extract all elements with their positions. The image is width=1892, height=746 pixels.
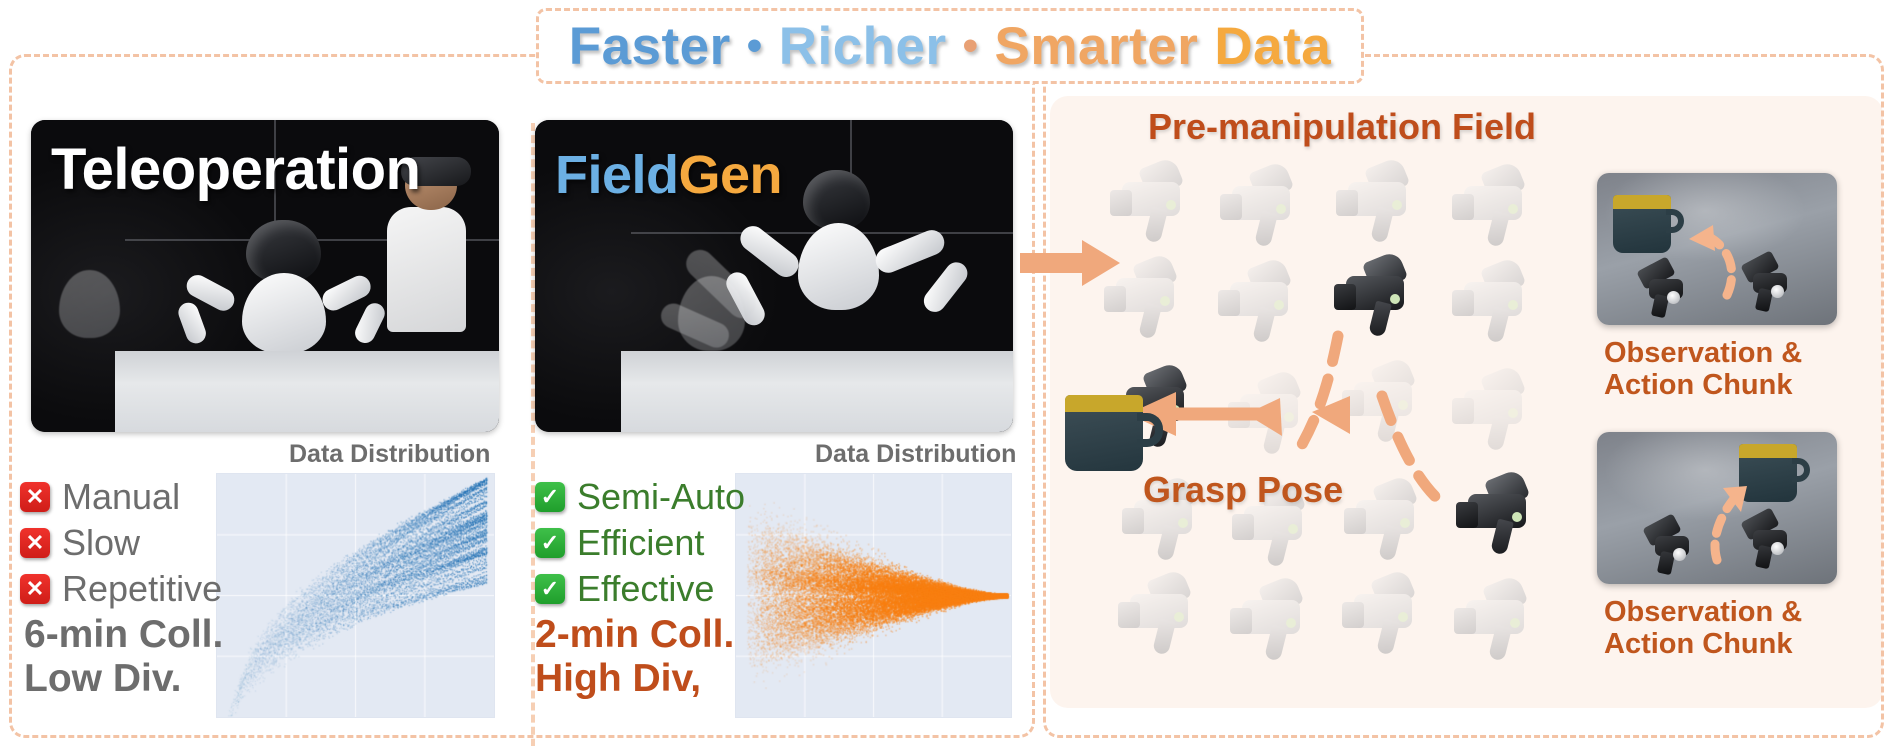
list-item: ✓ Semi-Auto <box>535 474 745 520</box>
scatter-canvas-fieldgen <box>736 474 1011 717</box>
gripper-field <box>1100 160 1600 700</box>
headline-word-smarter: Smarter <box>995 16 1199 77</box>
summary-line-1: 6-min Coll. <box>24 613 223 657</box>
bullet-label: Effective <box>577 568 714 610</box>
headline-word-data: Data <box>1214 16 1331 77</box>
headline-text: Faster • Richer • Smarter Data <box>569 16 1332 77</box>
fieldgen-bullet-list: ✓ Semi-Auto ✓ Efficient ✓ Effective <box>535 474 745 612</box>
check-icon: ✓ <box>535 574 565 604</box>
check-icon: ✓ <box>535 528 565 558</box>
gripper-pose <box>1340 478 1432 556</box>
headline-banner: Faster • Richer • Smarter Data <box>536 8 1364 84</box>
observation-thumbnail-2 <box>1597 432 1837 584</box>
headline-word-faster: Faster <box>569 16 731 77</box>
list-item: ✓ Efficient <box>535 520 745 566</box>
gripper-pose <box>1448 164 1540 242</box>
scatter-plot-fieldgen <box>735 473 1012 718</box>
observation-caption-1: Observation & Action Chunk <box>1604 337 1802 402</box>
teleoperation-photo: Teleoperation <box>31 120 499 432</box>
observation-caption-2: Observation & Action Chunk <box>1604 596 1802 661</box>
gripper-pose <box>1338 360 1430 438</box>
caption-line-2: Action Chunk <box>1604 369 1802 401</box>
figure-root: Faster • Richer • Smarter Data <box>0 0 1892 746</box>
summary-line-2: High Div, <box>535 657 734 701</box>
caption-line-1: Observation & <box>1604 596 1802 628</box>
list-item: ✕ Slow <box>20 520 222 566</box>
pre-manipulation-title: Pre-manipulation Field <box>1148 106 1536 148</box>
gripper-pose-highlighted <box>1452 472 1544 550</box>
scatter-plot-teleoperation <box>216 473 495 718</box>
headline-word-richer: Richer <box>779 16 947 77</box>
list-item: ✕ Manual <box>20 474 222 520</box>
teleoperation-summary: 6-min Coll. Low Div. <box>24 613 223 700</box>
gripper-pose <box>1114 572 1206 650</box>
data-distribution-title-middle: Data Distribution <box>815 440 1016 469</box>
grasp-pose-label: Grasp Pose <box>1143 469 1343 511</box>
gripper-pose <box>1214 260 1306 338</box>
thumbnail-motion-arrow-2 <box>1697 482 1757 562</box>
bullet-label: Repetitive <box>62 568 222 610</box>
gripper-pose <box>1216 164 1308 242</box>
gripper-pose <box>1106 160 1198 238</box>
flow-arrow-icon <box>1020 240 1120 286</box>
cross-icon: ✕ <box>20 482 50 512</box>
cross-icon: ✕ <box>20 574 50 604</box>
target-mug <box>1065 395 1143 471</box>
bullet-label: Manual <box>62 476 180 518</box>
fieldgen-label-gen: Gen <box>679 145 783 205</box>
gripper-pose <box>1226 578 1318 656</box>
fieldgen-label-field: Field <box>555 145 679 205</box>
teleoperation-bullet-list: ✕ Manual ✕ Slow ✕ Repetitive <box>20 474 222 612</box>
list-item: ✓ Effective <box>535 566 745 612</box>
observation-thumbnail-1 <box>1597 173 1837 325</box>
data-distribution-title-left: Data Distribution <box>289 440 490 469</box>
gripper-pose-highlighted <box>1330 254 1422 332</box>
thumbnail-motion-arrow-1 <box>1679 225 1749 299</box>
bullet-label: Semi-Auto <box>577 476 745 518</box>
teleoperation-photo-label: Teleoperation <box>51 136 420 203</box>
check-icon: ✓ <box>535 482 565 512</box>
caption-line-1: Observation & <box>1604 337 1802 369</box>
gripper-pose <box>1224 372 1316 450</box>
fieldgen-summary: 2-min Coll. High Div, <box>535 613 734 700</box>
summary-line-2: Low Div. <box>24 657 223 701</box>
gripper-pose <box>1332 160 1424 238</box>
fieldgen-photo-label: FieldGen <box>555 144 782 206</box>
caption-line-2: Action Chunk <box>1604 628 1802 660</box>
fieldgen-photo: FieldGen <box>535 120 1013 432</box>
gripper-pose <box>1338 572 1430 650</box>
summary-line-1: 2-min Coll. <box>535 613 734 657</box>
scatter-canvas-teleoperation <box>217 474 494 717</box>
gripper-pose <box>1450 578 1542 656</box>
list-item: ✕ Repetitive <box>20 566 222 612</box>
gripper-pose <box>1448 260 1540 338</box>
bullet-label: Slow <box>62 522 140 564</box>
bullet-label: Efficient <box>577 522 704 564</box>
gripper-pose <box>1448 368 1540 446</box>
cross-icon: ✕ <box>20 528 50 558</box>
